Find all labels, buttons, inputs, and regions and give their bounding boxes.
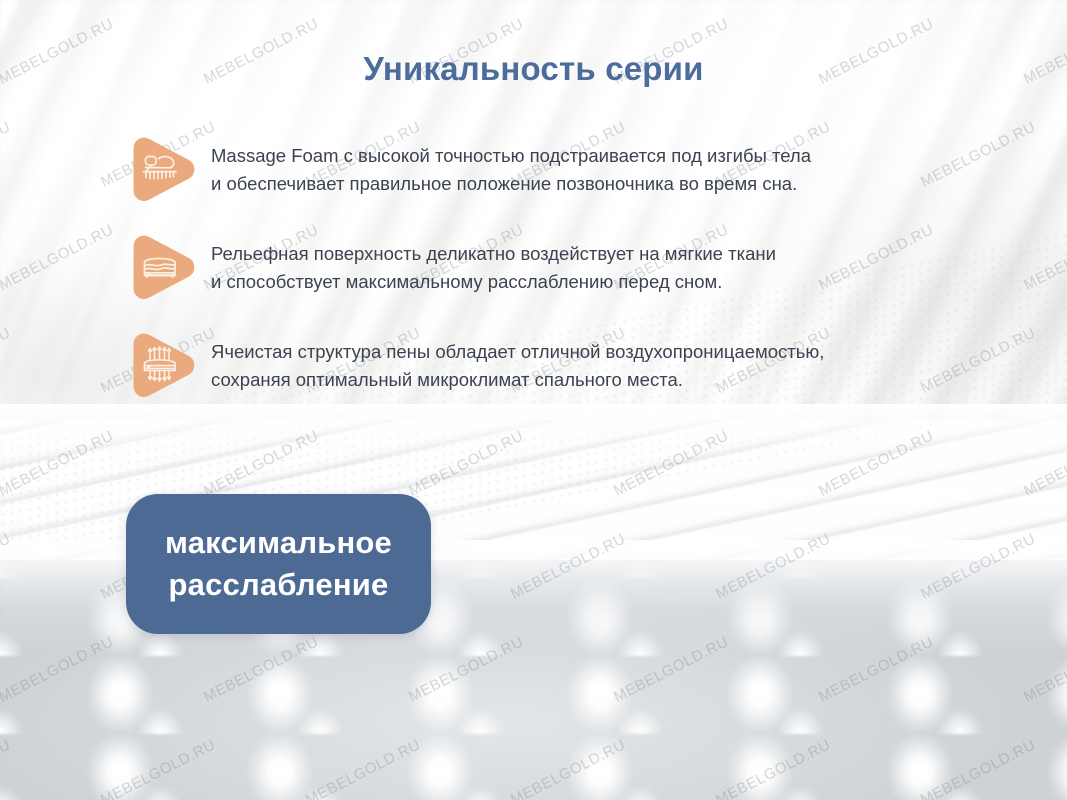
promo-slide: MEBELGOLD.RUMEBELGOLD.RUMEBELGOLD.RUMEBE… <box>0 0 1067 800</box>
feature-text-1: Massage Foam с высокой точностью подстра… <box>211 133 811 198</box>
feature-item-1: Massage Foam с высокой точностью подстра… <box>124 133 811 207</box>
person-on-mattress-icon <box>124 133 198 207</box>
status-badge-label: максимальное расслабление <box>165 522 392 606</box>
background-upper-mid-blend <box>0 404 1067 464</box>
feature-text-2: Рельефная поверхность деликатно воздейст… <box>211 231 776 296</box>
layered-mattress-icon <box>124 231 198 305</box>
feature-text-3: Ячеистая структура пены обладает отлично… <box>211 329 824 394</box>
breathable-mattress-icon <box>124 329 198 403</box>
feature-item-3: Ячеистая структура пены обладает отлично… <box>124 329 824 403</box>
feature-item-2: Рельефная поверхность деликатно воздейст… <box>124 231 776 305</box>
status-badge: максимальное расслабление <box>126 494 431 634</box>
page-title: Уникальность серии <box>0 50 1067 88</box>
